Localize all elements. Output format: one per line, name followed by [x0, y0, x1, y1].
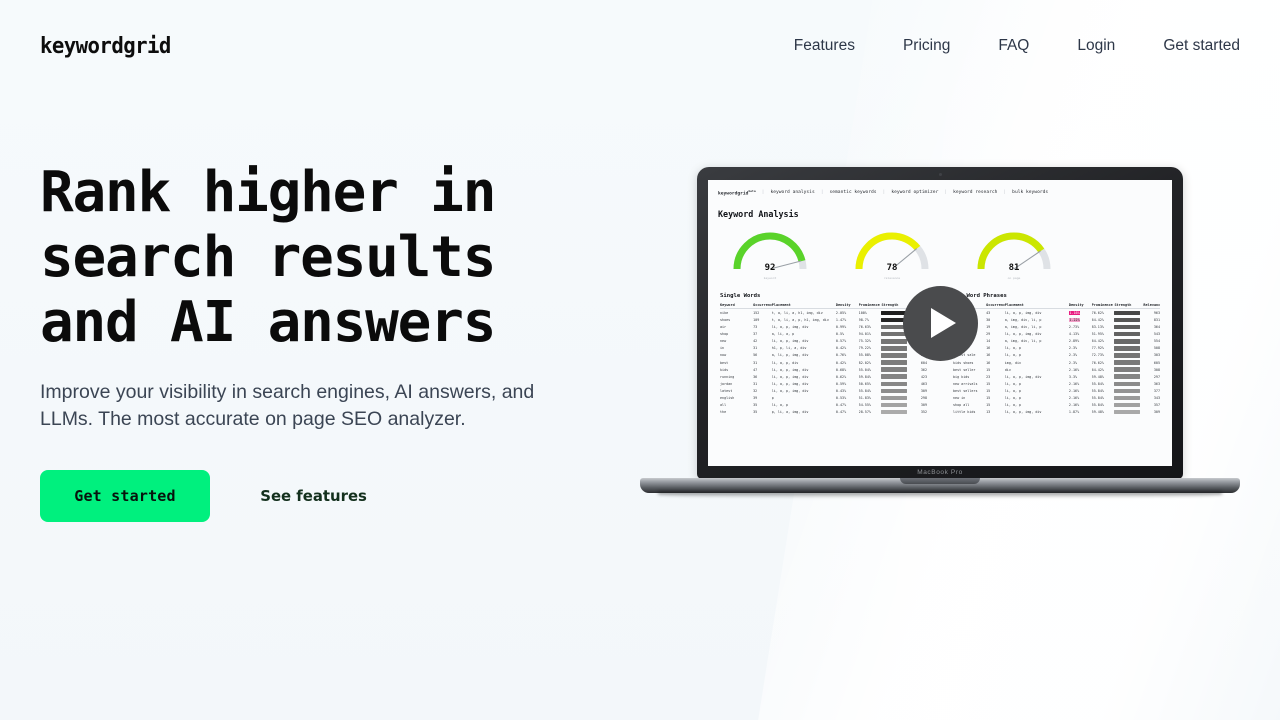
- hero-cta-row: Get started See features: [40, 470, 600, 522]
- laptop-base-shadow: [658, 491, 1222, 498]
- cell-prominence: 55.84%: [1092, 402, 1115, 409]
- app-nav-keyword-optimizer[interactable]: keyword optimizer: [891, 190, 938, 195]
- cell-strength: [1114, 352, 1143, 359]
- cell-prominence: 64.42%: [1092, 316, 1115, 323]
- cell-occurrences: 16: [986, 345, 1005, 352]
- nav-item-get-started[interactable]: Get started: [1163, 37, 1240, 55]
- cell-density: 0.47%: [836, 409, 859, 416]
- cell-prominence: 79.22%: [859, 345, 882, 352]
- table-row[interactable]: air all16li, a, p2.3%77.92%508: [953, 345, 1160, 352]
- single-words-col-prominence: Prominence: [859, 302, 882, 309]
- cell-prominence: 59.48%: [1092, 373, 1115, 380]
- cell-relevance: 309: [910, 402, 927, 409]
- device-label: MacBook Pro: [697, 469, 1183, 476]
- cell-keyword: kids shoes: [953, 359, 986, 366]
- cell-density: 0.43%: [836, 387, 859, 394]
- cell-keyword: new in: [953, 394, 986, 401]
- cell-occurrences: 16: [986, 359, 1005, 366]
- cell-relevance: 309: [1143, 409, 1160, 416]
- strength-bar: [881, 410, 906, 415]
- strength-bar: [881, 403, 906, 408]
- webcam-icon: [939, 173, 942, 176]
- cell-density: 0.47%: [836, 402, 859, 409]
- cell-placement: li, a, p: [772, 402, 836, 409]
- strength-bar: [881, 339, 906, 344]
- cell-relevance: 463: [910, 380, 927, 387]
- cell-density: 2.3%: [1069, 352, 1092, 359]
- cell-prominence: 55.04%: [859, 366, 882, 373]
- cell-occurrences: 15: [986, 394, 1005, 401]
- cell-strength: [881, 394, 910, 401]
- cell-density: 2.16%: [1069, 387, 1092, 394]
- hero-headline: Rank higher in search results and AI ans…: [40, 160, 600, 355]
- strength-bar: [1114, 382, 1139, 387]
- play-icon: [931, 308, 956, 338]
- cell-strength: [1114, 331, 1143, 338]
- table-row[interactable]: lowest sale16li, a, p2.3%72.73%303: [953, 352, 1160, 359]
- gauge-label: keyword: [724, 276, 816, 280]
- cell-occurrences: 39: [753, 394, 772, 401]
- strength-bar: [1114, 311, 1139, 316]
- cell-strength: [1114, 309, 1143, 317]
- cell-prominence: 76.62%: [1092, 309, 1115, 317]
- cell-density: 1.22%: [1069, 316, 1092, 323]
- cell-prominence: 72.73%: [1092, 352, 1115, 359]
- nav-divider: |: [883, 190, 886, 195]
- cell-strength: [881, 345, 910, 352]
- strength-bar: [881, 396, 906, 401]
- cell-relevance: 343: [1143, 394, 1160, 401]
- cell-strength: [881, 366, 910, 373]
- cell-relevance: 298: [910, 394, 927, 401]
- strength-bar: [1114, 332, 1139, 337]
- gauge-label: relevance: [846, 276, 938, 280]
- cell-placement: img, div: [1005, 359, 1069, 366]
- cell-placement: li, a, p, img, div: [772, 366, 836, 373]
- cell-placement: li, a, p: [1005, 394, 1069, 401]
- strength-bar: [881, 389, 906, 394]
- cell-relevance: 963: [1143, 309, 1160, 317]
- cell-placement: li, a, p, img, div: [772, 338, 836, 345]
- cell-prominence: 77.92%: [1092, 345, 1115, 352]
- nav-item-faq[interactable]: FAQ: [998, 37, 1029, 55]
- cell-keyword: english: [720, 394, 753, 401]
- strength-bar: [1114, 403, 1139, 408]
- two-word-col-strength: Strength: [1114, 302, 1143, 309]
- two-word-col-relevance: Relevance: [1143, 302, 1160, 309]
- cell-occurrences: 35: [753, 409, 772, 416]
- single-words-table: KeywordOccurrencesPlacementDensityPromin…: [720, 302, 927, 416]
- cell-strength: [1114, 373, 1143, 380]
- strength-bar: [881, 353, 906, 358]
- cell-occurrences: 56: [753, 352, 772, 359]
- strength-bar: [1114, 346, 1139, 351]
- cell-occurrences: 31: [753, 345, 772, 352]
- cell-prominence: 64.42%: [1092, 366, 1115, 373]
- cell-prominence: 82.02%: [859, 359, 882, 366]
- nav-item-features[interactable]: Features: [794, 37, 855, 55]
- table-row[interactable]: jordan31li, a, p, img, div0.59%50.65%463: [720, 380, 927, 387]
- cell-prominence: 59.48%: [1092, 409, 1115, 416]
- table-row[interactable]: new42li, a, p, img, div0.57%75.32%649: [720, 338, 927, 345]
- strength-bar: [881, 382, 906, 387]
- cell-density: 0.76%: [836, 352, 859, 359]
- laptop-mockup: keywordgridbeta | keyword analysis | sem…: [640, 160, 1240, 510]
- cell-prominence: 28.57%: [859, 409, 882, 416]
- cell-strength: [881, 387, 910, 394]
- cell-placement: a, li, a, p: [772, 331, 836, 338]
- cell-density: 2.16%: [1069, 394, 1092, 401]
- cell-occurrences: 43: [986, 309, 1005, 317]
- cell-strength: [1114, 380, 1143, 387]
- cell-density: 0.42%: [836, 359, 859, 366]
- play-video-button[interactable]: [903, 286, 978, 361]
- nav-divider: |: [762, 190, 765, 195]
- cell-density: 1.47%: [836, 316, 859, 323]
- cell-prominence: 55.84%: [1092, 394, 1115, 401]
- app-page-title: Keyword Analysis: [718, 209, 1162, 219]
- table-row[interactable]: now56a, li, p, img, div0.76%55.08%331: [720, 352, 927, 359]
- cell-occurrences: 37: [753, 331, 772, 338]
- get-started-button[interactable]: Get started: [40, 470, 210, 522]
- gauge-value: 78: [846, 263, 938, 273]
- cell-density: 2.3%: [1069, 345, 1092, 352]
- strength-bar: [1114, 374, 1139, 379]
- cell-density: 2.89%: [1069, 338, 1092, 345]
- table-row[interactable]: english39p0.53%51.83%298: [720, 394, 927, 401]
- cell-placement: li, a, p: [1005, 352, 1069, 359]
- cell-strength: [881, 409, 910, 416]
- landing-page: keywordgrid Features Pricing FAQ Login G…: [0, 0, 1280, 720]
- see-features-link[interactable]: See features: [260, 487, 367, 505]
- table-row[interactable]: kids47li, a, p, img, div0.68%55.04%362: [720, 366, 927, 373]
- table-row[interactable]: factory19a, img, div, li, p2.73%83.13%36…: [953, 324, 1160, 331]
- cell-occurrences: 30: [986, 316, 1005, 323]
- cell-placement: li, a, p, img, div: [1005, 309, 1069, 317]
- cell-occurrences: 15: [986, 402, 1005, 409]
- cell-relevance: 554: [1143, 338, 1160, 345]
- cell-prominence: 83.13%: [1092, 324, 1115, 331]
- cell-occurrences: 109: [753, 316, 772, 323]
- density-highlight: 1.22%: [1069, 318, 1080, 322]
- density-highlight: 1.16%: [1069, 311, 1080, 315]
- cell-keyword: in: [720, 345, 753, 352]
- cell-occurrences: 15: [986, 380, 1005, 387]
- cell-keyword: shop: [720, 331, 753, 338]
- cell-keyword: best sellers: [953, 387, 986, 394]
- cell-relevance: 364: [1143, 324, 1160, 331]
- table-row[interactable]: kids shoes16img, div2.3%76.62%605: [953, 359, 1160, 366]
- app-nav-keyword-research[interactable]: keyword research: [953, 190, 997, 195]
- cell-density: 0.99%: [836, 324, 859, 331]
- cell-density: 2.05%: [836, 309, 859, 317]
- site-header: keywordgrid Features Pricing FAQ Login G…: [0, 0, 1280, 92]
- strength-bar: [881, 360, 906, 365]
- cell-relevance: 605: [1143, 359, 1160, 366]
- cell-density: 1.16%: [1069, 309, 1092, 317]
- cell-keyword: nike: [720, 309, 753, 317]
- cell-strength: [881, 373, 910, 380]
- cell-prominence: 98.7%: [859, 316, 882, 323]
- single-words-table-wrap: Single Words KeywordOccurrencesPlacement…: [720, 293, 927, 416]
- cell-occurrences: 35: [753, 402, 772, 409]
- table-row[interactable]: best seller15div2.16%64.42%308: [953, 366, 1160, 373]
- cell-prominence: 51.95%: [1092, 331, 1115, 338]
- table-row[interactable]: shoes109t, a, li, a, p, h1, img, div1.47…: [720, 316, 927, 323]
- cell-placement: li, a, p, img, div: [1005, 331, 1069, 338]
- cell-prominence: 50.65%: [859, 380, 882, 387]
- nav-divider: |: [944, 190, 947, 195]
- cell-strength: [1114, 316, 1143, 323]
- app-brand[interactable]: keywordgridbeta: [718, 189, 756, 197]
- nav-divider: |: [1003, 190, 1006, 195]
- table-header-row: KeywordOccurrencesPlacementDensityPromin…: [720, 302, 927, 309]
- cell-relevance: 363: [1143, 380, 1160, 387]
- cell-occurrences: 23: [986, 373, 1005, 380]
- two-word-col-density: Density: [1069, 302, 1092, 309]
- cell-prominence: 55.84%: [1092, 380, 1115, 387]
- cell-occurrences: 14: [986, 338, 1005, 345]
- cell-keyword: big kids: [953, 373, 986, 380]
- table-row[interactable]: new in15li, a, p2.16%55.84%343: [953, 394, 1160, 401]
- strength-bar: [1114, 410, 1139, 415]
- cell-keyword: kids: [720, 366, 753, 373]
- table-row[interactable]: air force14a, img, div, li, p2.89%64.42%…: [953, 338, 1160, 345]
- cell-prominence: 51.83%: [859, 394, 882, 401]
- cell-placement: li, a, p, div: [772, 359, 836, 366]
- cell-placement: li, a, p, img, div: [1005, 409, 1069, 416]
- table-row[interactable]: best sellers15li, a, p2.16%55.84%377: [953, 387, 1160, 394]
- cell-keyword: air: [720, 324, 753, 331]
- cell-strength: [1114, 409, 1143, 416]
- cell-prominence: 55.08%: [859, 352, 882, 359]
- cell-occurrences: 13: [986, 409, 1005, 416]
- cell-relevance: 362: [910, 366, 927, 373]
- gauge-value: 92: [724, 263, 816, 273]
- cell-keyword: latest: [720, 387, 753, 394]
- table-row[interactable]: air73li, a, p, img, div0.99%76.63%98: [720, 324, 927, 331]
- laptop-lid: keywordgridbeta | keyword analysis | sem…: [697, 167, 1183, 479]
- cell-density: 0.59%: [836, 380, 859, 387]
- cell-prominence: 64.42%: [1092, 338, 1115, 345]
- cell-placement: a, img, div, li, p: [1005, 338, 1069, 345]
- cell-strength: [1114, 324, 1143, 331]
- cell-keyword: running: [720, 373, 753, 380]
- cell-strength: [881, 352, 910, 359]
- strength-bar: [1114, 325, 1139, 330]
- table-header-row: KeywordOccurrencesPlacementDensityPromin…: [953, 302, 1160, 309]
- cell-prominence: 94.01%: [859, 331, 882, 338]
- cell-occurrences: 15: [986, 366, 1005, 373]
- cell-density: 4.13%: [1069, 331, 1092, 338]
- table-row[interactable]: in31h1, p, li, a, div0.42%79.22%329: [720, 345, 927, 352]
- nav-item-login[interactable]: Login: [1077, 37, 1115, 55]
- cell-density: 0.53%: [836, 394, 859, 401]
- table-row[interactable]: latest32li, a, p, img, div0.43%55.84%309: [720, 387, 927, 394]
- cell-keyword: now: [720, 352, 753, 359]
- app-nav-bulk-keywords[interactable]: bulk keywords: [1012, 190, 1048, 195]
- cell-occurrences: 29: [986, 331, 1005, 338]
- two-word-phrases-title: Two Word Phrases: [953, 293, 1160, 299]
- cell-placement: a, img, div, li, p: [1005, 316, 1069, 323]
- cell-prominence: 76.62%: [1092, 359, 1115, 366]
- single-words-col-placement: Placement: [772, 302, 836, 309]
- strength-bar: [1114, 360, 1139, 365]
- cell-strength: [881, 380, 910, 387]
- cell-placement: p: [772, 394, 836, 401]
- table-row[interactable]: all35li, a, p0.47%54.55%309: [720, 402, 927, 409]
- cell-keyword: little kids: [953, 409, 986, 416]
- cell-keyword: best seller: [953, 366, 986, 373]
- table-row[interactable]: little kids13li, a, p, img, div1.87%59.4…: [953, 409, 1160, 416]
- app-brand-badge: beta: [748, 189, 755, 193]
- cell-density: 2.16%: [1069, 402, 1092, 409]
- cell-relevance: 423: [910, 373, 927, 380]
- cell-density: 2.16%: [1069, 366, 1092, 373]
- cell-strength: [1114, 366, 1143, 373]
- cell-occurrences: 152: [753, 309, 772, 317]
- cell-occurrences: 47: [753, 366, 772, 373]
- cell-placement: li, a, p, img, div: [772, 387, 836, 394]
- cell-occurrences: 36: [753, 373, 772, 380]
- cell-placement: p, li, a, img, div: [772, 409, 836, 416]
- cell-placement: li, a, p, img, div: [772, 373, 836, 380]
- gauge-3: 81on page: [968, 225, 1060, 281]
- laptop-base-notch: [900, 478, 980, 484]
- cell-keyword: all: [720, 402, 753, 409]
- gauge-2: 78relevance: [846, 225, 938, 281]
- cell-prominence: 55.84%: [1092, 387, 1115, 394]
- cell-occurrences: 42: [753, 338, 772, 345]
- cell-density: 2.73%: [1069, 324, 1092, 331]
- cell-placement: li, a, p, img, div: [772, 324, 836, 331]
- table-row[interactable]: similar30a, img, div, li, p1.22%64.42%83…: [953, 316, 1160, 323]
- cell-keyword: best: [720, 359, 753, 366]
- cell-keyword: new: [720, 338, 753, 345]
- gauge-group: 92keyword78relevance81on page: [718, 225, 1162, 281]
- strength-bar: [881, 332, 906, 337]
- strength-bar: [1114, 318, 1139, 323]
- strength-bar: [1114, 339, 1139, 344]
- cell-relevance: 309: [910, 387, 927, 394]
- cell-prominence: 55.84%: [859, 387, 882, 394]
- two-word-col-placement: Placement: [1005, 302, 1069, 309]
- two-word-col-prominence: Prominence: [1092, 302, 1115, 309]
- nav-item-pricing[interactable]: Pricing: [903, 37, 950, 55]
- cell-strength: [881, 402, 910, 409]
- gauge-1: 92keyword: [724, 225, 816, 281]
- cell-relevance: 357: [1143, 402, 1160, 409]
- cell-density: 0.42%: [836, 345, 859, 352]
- strength-bar: [1114, 389, 1139, 394]
- cell-density: 0.62%: [836, 373, 859, 380]
- strength-bar: [881, 367, 906, 372]
- cell-strength: [1114, 338, 1143, 345]
- cell-keyword: the: [720, 409, 753, 416]
- cell-strength: [1114, 387, 1143, 394]
- cell-placement: li, a, p: [1005, 387, 1069, 394]
- gauge-label: on page: [968, 276, 1060, 280]
- cell-density: 1.87%: [1069, 409, 1092, 416]
- two-word-phrases-table: KeywordOccurrencesPlacementDensityPromin…: [953, 302, 1160, 416]
- gauge-value: 81: [968, 263, 1060, 273]
- cell-strength: [1114, 402, 1143, 409]
- cell-placement: li, a, p: [1005, 380, 1069, 387]
- table-row[interactable]: new arrivals15li, a, p2.16%55.84%363: [953, 380, 1160, 387]
- cell-placement: li, a, p, img, div: [772, 380, 836, 387]
- cell-strength: [1114, 394, 1143, 401]
- table-row[interactable]: new shoe29li, a, p, img, div4.13%51.95%5…: [953, 331, 1160, 338]
- laptop-screen: keywordgridbeta | keyword analysis | sem…: [708, 180, 1172, 466]
- nav-divider: |: [821, 190, 824, 195]
- single-words-col-occurrences: Occurrences: [753, 302, 772, 309]
- single-words-col-keyword: Keyword: [720, 302, 753, 309]
- main-navigation: Features Pricing FAQ Login Get started: [794, 37, 1240, 55]
- strength-bar: [1114, 353, 1139, 358]
- table-row[interactable]: shop all15li, a, p2.16%55.84%357: [953, 402, 1160, 409]
- table-row[interactable]: big kids23li, a, p, img, div3.3%59.48%29…: [953, 373, 1160, 380]
- cell-relevance: 604: [910, 359, 927, 366]
- cell-relevance: 352: [910, 409, 927, 416]
- cell-relevance: 508: [1143, 345, 1160, 352]
- cell-keyword: shoes: [720, 316, 753, 323]
- cell-relevance: 303: [1143, 352, 1160, 359]
- strength-bar: [1114, 396, 1139, 401]
- cell-placement: t, a, li, a, h1, img, div: [772, 309, 836, 317]
- cell-relevance: 831: [1143, 316, 1160, 323]
- strength-bar: [881, 374, 906, 379]
- app-nav-keyword-analysis[interactable]: keyword analysis: [770, 190, 814, 195]
- table-row[interactable]: nike152t, a, li, a, h1, img, div2.05%100…: [720, 309, 927, 317]
- cell-occurrences: 19: [986, 324, 1005, 331]
- cell-occurrences: 32: [753, 387, 772, 394]
- cell-placement: a, img, div, li, p: [1005, 324, 1069, 331]
- cell-occurrences: 73: [753, 324, 772, 331]
- table-row[interactable]: the35p, li, a, img, div0.47%28.57%352: [720, 409, 927, 416]
- cell-density: 0.57%: [836, 338, 859, 345]
- cell-relevance: 308: [1143, 366, 1160, 373]
- cell-occurrences: 16: [986, 352, 1005, 359]
- two-word-phrases-table-wrap: Two Word Phrases KeywordOccurrencesPlace…: [953, 293, 1160, 416]
- cell-prominence: 75.32%: [859, 338, 882, 345]
- hero-section: Rank higher in search results and AI ans…: [40, 160, 600, 522]
- cell-keyword: shop all: [953, 402, 986, 409]
- cell-occurrences: 31: [753, 380, 772, 387]
- cell-placement: li, a, p: [1005, 345, 1069, 352]
- table-row[interactable]: air max43li, a, p, img, div1.16%76.62%96…: [953, 309, 1160, 317]
- cell-placement: li, a, p: [1005, 402, 1069, 409]
- table-row[interactable]: shop37a, li, a, p0.5%94.01%360: [720, 331, 927, 338]
- cell-density: 0.68%: [836, 366, 859, 373]
- cell-prominence: 76.63%: [859, 324, 882, 331]
- app-nav-semantic-keywords[interactable]: semantic keywords: [830, 190, 877, 195]
- table-row[interactable]: running36li, a, p, img, div0.62%59.84%42…: [720, 373, 927, 380]
- cell-keyword: jordan: [720, 380, 753, 387]
- cell-relevance: 543: [1143, 331, 1160, 338]
- brand-logo[interactable]: keywordgrid: [40, 34, 171, 59]
- cell-density: 0.5%: [836, 331, 859, 338]
- cell-occurrences: 15: [986, 387, 1005, 394]
- cell-relevance: 377: [1143, 387, 1160, 394]
- two-word-col-occurrences: Occurrences: [986, 302, 1005, 309]
- table-row[interactable]: best31li, a, p, div0.42%82.02%604: [720, 359, 927, 366]
- single-words-title: Single Words: [720, 293, 927, 299]
- app-navigation: keywordgridbeta | keyword analysis | sem…: [718, 189, 1162, 202]
- cell-placement: a, li, p, img, div: [772, 352, 836, 359]
- strength-bar: [1114, 367, 1139, 372]
- hero-subheadline: Improve your visibility in search engine…: [40, 379, 545, 433]
- cell-density: 2.3%: [1069, 359, 1092, 366]
